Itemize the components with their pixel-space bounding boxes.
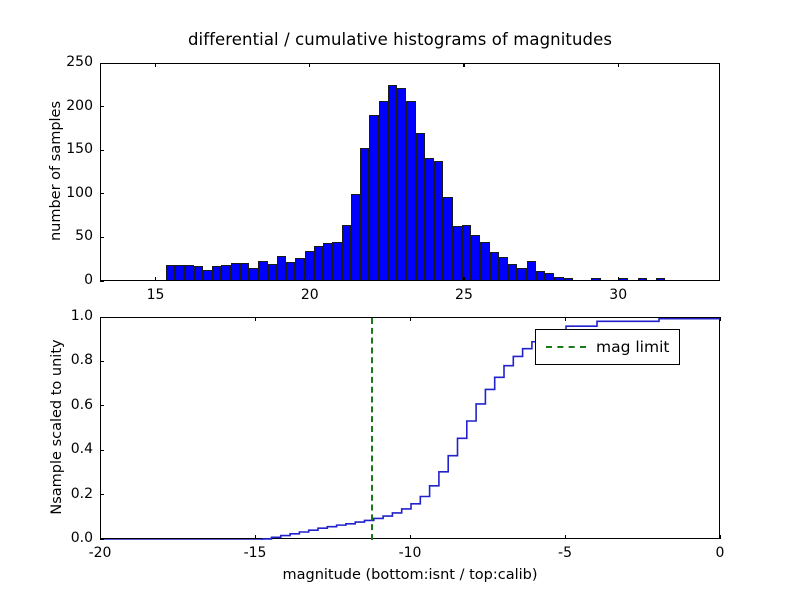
histogram-bar: [360, 148, 369, 280]
histogram-bar: [656, 278, 665, 280]
top-y-axis-label: number of samples: [48, 71, 64, 271]
histogram-bar: [305, 251, 314, 280]
x-tick-mark-top: [155, 63, 156, 67]
x-tick-mark-top: [255, 317, 256, 321]
histogram-bar: [517, 268, 526, 280]
histogram-bar: [268, 264, 277, 280]
x-tick-mark-top: [410, 317, 411, 321]
histogram-bar: [416, 133, 425, 280]
histogram-bar: [564, 278, 573, 280]
x-tick-mark: [100, 535, 101, 539]
legend-label: mag limit: [596, 338, 669, 356]
y-tick-mark: [100, 405, 104, 406]
histogram-bar: [397, 88, 406, 280]
x-tick-mark: [720, 535, 721, 539]
histogram-bar: [323, 243, 332, 280]
histogram-bar: [406, 101, 415, 280]
x-tick-mark-top: [618, 63, 619, 67]
x-tick-label: 15: [116, 287, 196, 303]
histogram-bar: [342, 225, 351, 280]
x-tick-mark: [255, 535, 256, 539]
x-tick-label: -20: [60, 545, 140, 561]
y-tick-mark: [100, 63, 104, 64]
histogram-bar: [203, 270, 212, 280]
y-tick-label: 100: [38, 185, 93, 201]
y-tick-label: 200: [38, 98, 93, 114]
y-tick-label: 0.4: [38, 441, 93, 457]
histogram-bar: [351, 194, 360, 280]
y-tick-label: 0.0: [38, 530, 93, 546]
histogram-bar: [619, 278, 628, 280]
histogram-bar: [499, 257, 508, 280]
mag-limit-vline: [371, 318, 373, 540]
y-tick-mark: [100, 361, 104, 362]
histogram-bar: [490, 252, 499, 280]
histogram-bar: [314, 246, 323, 280]
y-tick-label: 0.6: [38, 397, 93, 413]
histogram-bar: [527, 261, 536, 280]
bottom-y-axis-label: Nsample scaled to unity: [49, 312, 65, 542]
histogram-bar: [462, 225, 471, 280]
bottom-x-axis-label: magnitude (bottom:isnt / top:calib): [100, 567, 720, 583]
figure-title: differential / cumulative histograms of …: [0, 30, 800, 49]
x-tick-label: 0: [680, 545, 760, 561]
y-tick-mark: [100, 450, 104, 451]
x-tick-mark-top: [309, 63, 310, 67]
histogram-bar: [425, 158, 434, 280]
x-tick-label: 30: [578, 287, 658, 303]
histogram-bar: [166, 265, 175, 280]
histogram-bar: [286, 262, 295, 280]
histogram-bar: [434, 161, 443, 280]
matplotlib-figure: differential / cumulative histograms of …: [0, 0, 800, 600]
histogram-bar: [258, 261, 267, 280]
histogram-bar: [508, 264, 517, 280]
y-tick-label: 0.2: [38, 486, 93, 502]
histogram-bar: [379, 101, 388, 280]
histogram-bar: [388, 85, 397, 280]
histogram-bar: [249, 268, 258, 280]
x-tick-label: -5: [525, 545, 605, 561]
histogram-bar: [277, 256, 286, 280]
histogram-bar: [295, 258, 304, 280]
y-tick-mark: [100, 237, 104, 238]
y-tick-mark: [100, 494, 104, 495]
x-tick-mark: [463, 277, 464, 281]
histogram-bar: [536, 271, 545, 280]
x-tick-mark: [618, 277, 619, 281]
histogram-bar: [194, 266, 203, 280]
x-tick-mark: [410, 535, 411, 539]
histogram-bar: [212, 266, 221, 280]
histogram-bar: [184, 265, 193, 280]
x-tick-mark-top: [100, 317, 101, 321]
legend-box[interactable]: mag limit: [535, 329, 680, 365]
y-tick-mark: [100, 281, 104, 282]
x-tick-label: -10: [370, 545, 450, 561]
histogram-bar: [471, 235, 480, 280]
x-tick-label: -15: [215, 545, 295, 561]
histogram-bar: [175, 265, 184, 280]
histogram-bars: [101, 64, 719, 280]
x-tick-mark-top: [720, 317, 721, 321]
y-tick-mark: [100, 150, 104, 151]
y-tick-label: 0: [38, 272, 93, 288]
histogram-bar: [332, 242, 341, 280]
histogram-bar: [545, 273, 554, 280]
x-tick-label: 20: [270, 287, 350, 303]
histogram-bar: [554, 277, 563, 280]
y-tick-mark: [100, 539, 104, 540]
histogram-bar: [453, 226, 462, 280]
legend-dashed-line-icon: [546, 346, 586, 348]
histogram-bar: [221, 265, 230, 280]
histogram-bar: [591, 278, 600, 280]
x-tick-mark: [155, 277, 156, 281]
y-tick-mark: [100, 193, 104, 194]
histogram-bar: [480, 242, 489, 280]
histogram-bar: [231, 263, 240, 280]
top-histogram-axes: [100, 63, 720, 281]
y-tick-label: 1.0: [38, 308, 93, 324]
y-tick-mark: [100, 106, 104, 107]
x-tick-mark-top: [463, 63, 464, 67]
y-tick-label: 50: [38, 228, 93, 244]
x-tick-mark: [565, 535, 566, 539]
histogram-bar: [369, 115, 378, 280]
y-tick-mark: [100, 317, 104, 318]
y-tick-label: 250: [38, 54, 93, 70]
x-tick-mark: [309, 277, 310, 281]
bottom-cumulative-axes: mag limit: [100, 317, 720, 539]
y-tick-label: 0.8: [38, 352, 93, 368]
x-tick-mark-top: [565, 317, 566, 321]
histogram-bar: [443, 197, 452, 280]
x-tick-label: 25: [424, 287, 504, 303]
histogram-bar: [638, 278, 647, 280]
y-tick-label: 150: [38, 141, 93, 157]
histogram-bar: [240, 263, 249, 280]
